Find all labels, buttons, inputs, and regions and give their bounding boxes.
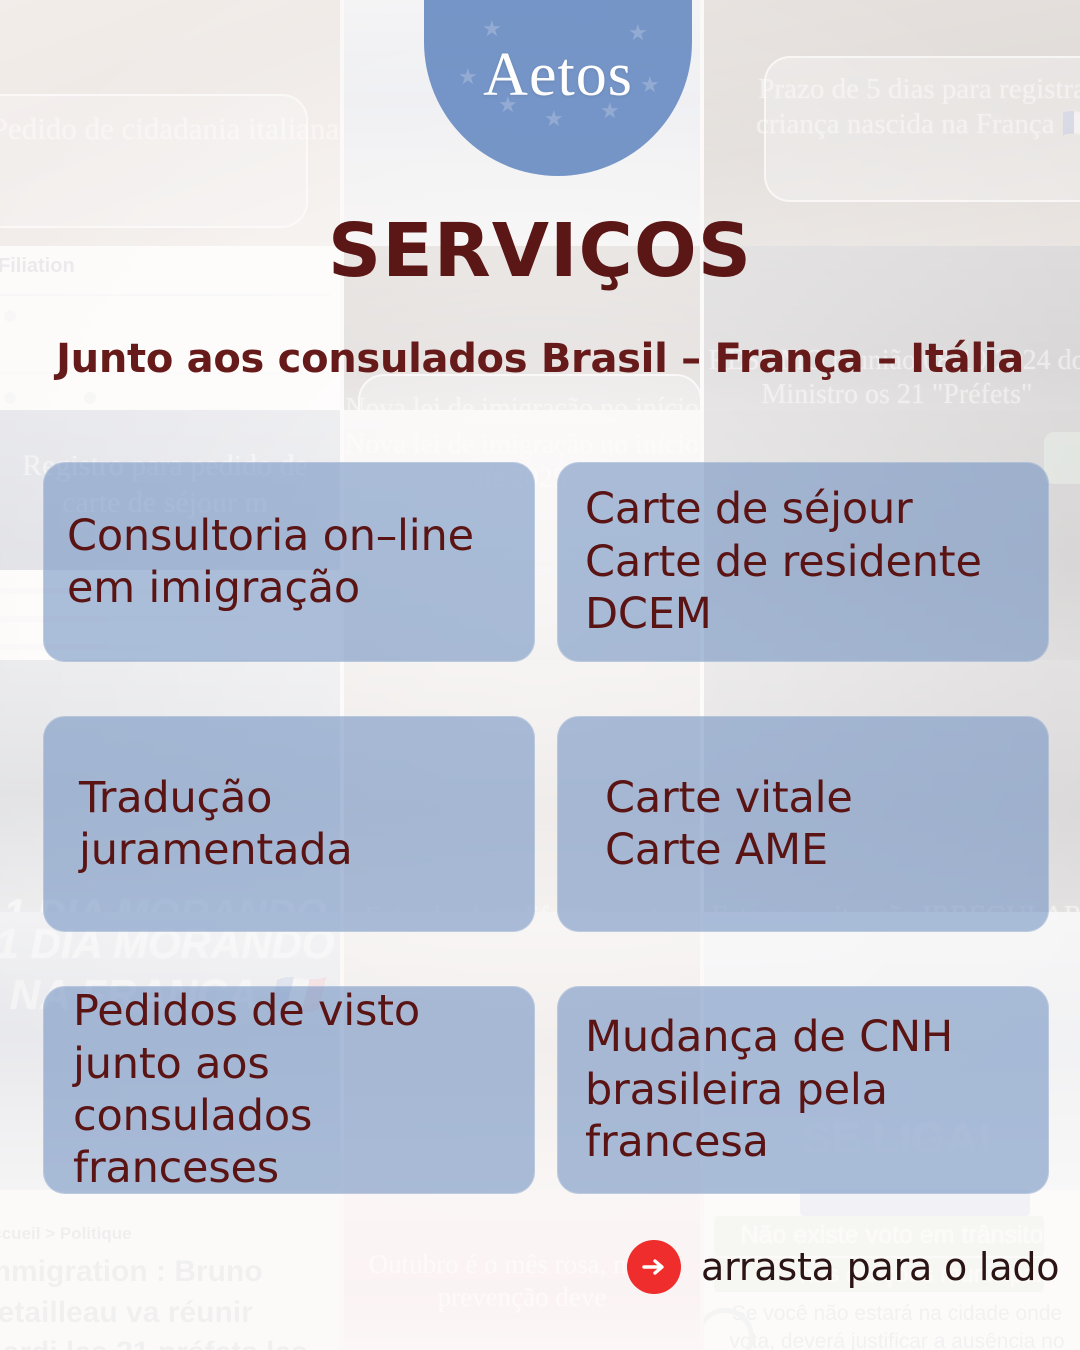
brand-logo: ★ ★ ★ ★ ★ ★ ★ Aetos	[424, 0, 692, 176]
service-card-label: Carte vitale Carte AME	[571, 772, 853, 877]
service-card-label: Pedidos de visto junto aos consulados fr…	[57, 985, 521, 1195]
service-card-label: Consultoria on–line em imigração	[57, 510, 474, 615]
service-card-traducao[interactable]: Tradução juramentada	[43, 716, 535, 932]
service-card-label: Carte de séjour Carte de residente DCEM	[571, 483, 982, 640]
services-row: Pedidos de visto junto aos consulados fr…	[43, 986, 1049, 1194]
service-card-carte-vitale[interactable]: Carte vitale Carte AME	[557, 716, 1049, 932]
service-card-cnh[interactable]: Mudança de CNH brasileira pela francesa	[557, 986, 1049, 1194]
swipe-hint-label: arrasta para o lado	[701, 1245, 1059, 1289]
services-grid: Consultoria on–line em imigração Carte d…	[43, 462, 1049, 1248]
service-card-consultoria[interactable]: Consultoria on–line em imigração	[43, 462, 535, 662]
services-row: Tradução juramentada Carte vitale Carte …	[43, 716, 1049, 932]
post-canvas: Pedido de cidadania italiana IMIGRANTES …	[0, 0, 1080, 1350]
page-subtitle: Junto aos consulados Brasil – França – I…	[0, 336, 1080, 382]
service-card-label: Mudança de CNH brasileira pela francesa	[571, 1011, 953, 1168]
star-icon: ★	[640, 74, 660, 96]
service-card-pedidos-visto[interactable]: Pedidos de visto junto aos consulados fr…	[43, 986, 535, 1194]
star-icon: ★	[458, 66, 478, 88]
services-row: Consultoria on–line em imigração Carte d…	[43, 462, 1049, 662]
swipe-hint[interactable]: arrasta para o lado	[627, 1240, 1059, 1294]
page-title: SERVIÇOS	[0, 208, 1080, 294]
post-content: ★ ★ ★ ★ ★ ★ ★ Aetos SERVIÇOS Junto aos c…	[0, 0, 1080, 1350]
star-icon: ★	[544, 108, 564, 130]
star-icon: ★	[482, 18, 502, 40]
service-card-label: Tradução juramentada	[57, 772, 352, 877]
service-card-carte-sejour[interactable]: Carte de séjour Carte de residente DCEM	[557, 462, 1049, 662]
arrow-right-icon[interactable]	[627, 1240, 681, 1294]
brand-logo-text: Aetos	[483, 40, 633, 111]
